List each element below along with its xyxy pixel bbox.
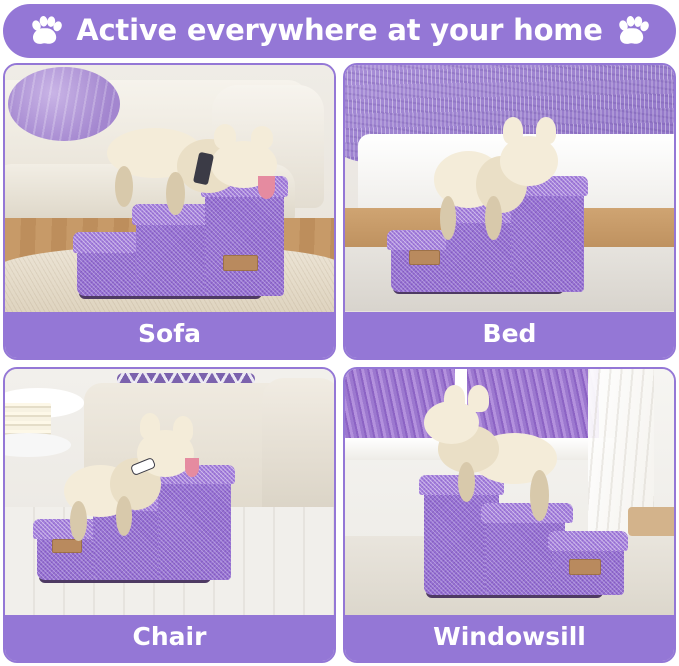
- dog-leg-rear: [530, 470, 549, 521]
- header-banner: Active everywhere at your home: [3, 4, 676, 58]
- dog-ear-left: [503, 117, 523, 144]
- dog-tongue: [258, 176, 275, 199]
- dog-on-stairs: [64, 423, 215, 541]
- panel-label-text: Bed: [483, 321, 537, 349]
- panel-label-text: Chair: [133, 624, 207, 652]
- panel-label-text: Sofa: [138, 321, 201, 349]
- dog-ear-right: [536, 117, 556, 144]
- panel-sofa[interactable]: Sofa: [3, 63, 336, 360]
- panel-grid: Sofa: [3, 63, 676, 663]
- panel-windowsill-label: Windowsill: [345, 615, 674, 661]
- dog-leg-front: [116, 496, 133, 536]
- paw-print-icon: [617, 16, 649, 46]
- page-title: Active everywhere at your home: [76, 16, 603, 47]
- stacked-books: [5, 403, 51, 435]
- dog-leg-front: [458, 462, 475, 502]
- dog-leg-rear: [70, 501, 87, 541]
- dog-ear-right: [251, 126, 273, 149]
- panel-bed-photo: [345, 65, 674, 312]
- brand-tag: [409, 250, 440, 265]
- brand-tag: [223, 255, 258, 270]
- panel-windowsill[interactable]: Windowsill: [343, 367, 676, 664]
- stairs-tread-1: [548, 531, 628, 552]
- dog-ear-left: [444, 385, 465, 412]
- dog-tongue: [185, 458, 199, 477]
- dog-on-stairs: [431, 119, 582, 242]
- panel-chair-photo: [5, 369, 334, 616]
- panel-bed-label: Bed: [345, 312, 674, 358]
- panel-sofa-label: Sofa: [5, 312, 334, 358]
- product-infographic: Active everywhere at your home: [0, 0, 679, 666]
- dog-leg-rear: [440, 196, 457, 240]
- armchair-arm: [262, 378, 334, 521]
- dog-leg-front: [485, 196, 502, 240]
- dog-on-stairs: [424, 393, 595, 526]
- panel-label-text: Windowsill: [433, 624, 586, 652]
- panel-sofa-photo: [5, 65, 334, 312]
- panel-bed[interactable]: Bed: [343, 63, 676, 360]
- dog-ear-right: [173, 416, 193, 442]
- dog-ear-right: [468, 385, 489, 412]
- wooden-stool: [628, 507, 674, 537]
- dog-leg-rear: [115, 166, 133, 207]
- dog-ear-left: [140, 413, 160, 439]
- dog-ear-left: [214, 124, 236, 149]
- dog-leg-front: [166, 172, 184, 215]
- panel-windowsill-photo: [345, 369, 674, 616]
- brand-tag: [569, 559, 601, 574]
- panel-chair[interactable]: Chair: [3, 367, 336, 664]
- dog-on-stairs: [104, 112, 288, 216]
- panel-chair-label: Chair: [5, 615, 334, 661]
- paw-print-icon: [30, 16, 62, 46]
